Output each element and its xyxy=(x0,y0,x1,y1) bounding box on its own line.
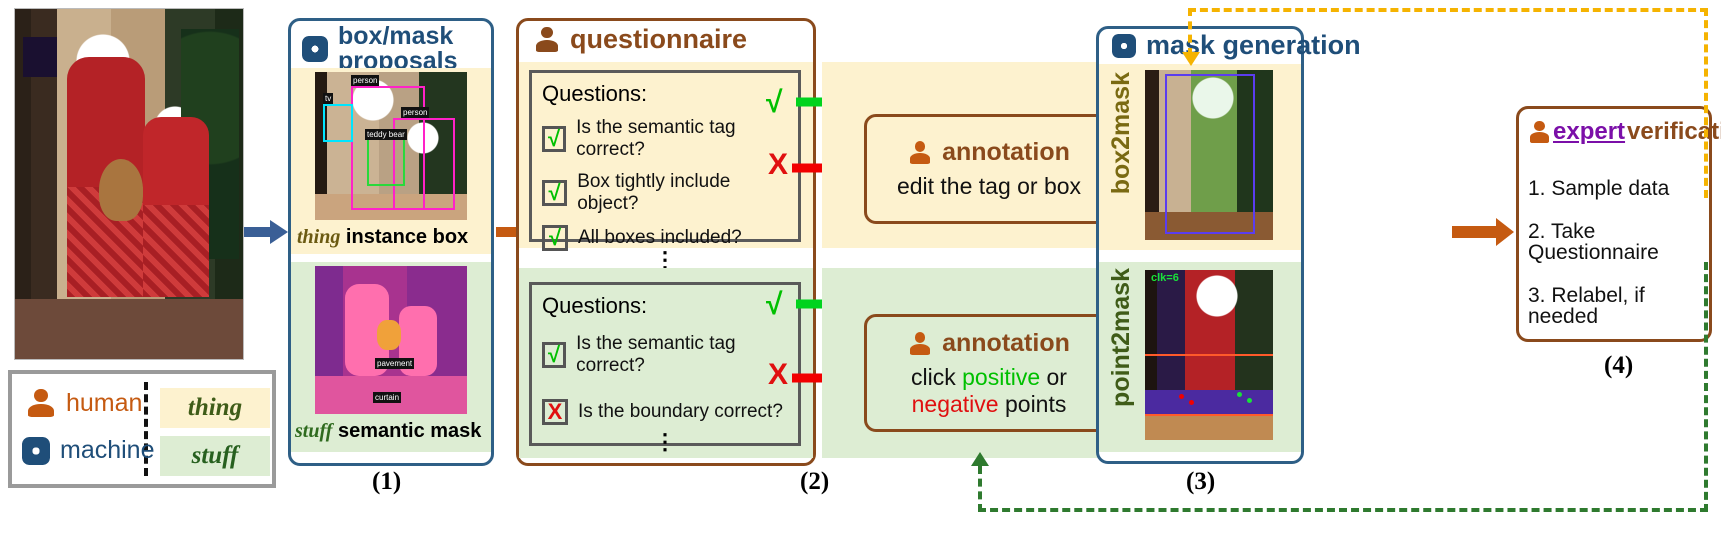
proposals-stuff-band: pavement curtain stuff semantic mask xyxy=(291,262,491,452)
thing-instance-box-image: person tv person teddy bear xyxy=(315,72,467,220)
bbox-teddy-bear xyxy=(367,138,405,186)
step-label-1: (1) xyxy=(372,468,401,496)
annotation-thing-text: edit the tag or box xyxy=(897,173,1081,199)
legend-box: human machine thing stuff xyxy=(8,370,276,488)
gear-icon xyxy=(1112,34,1136,58)
step-label-2: (2) xyxy=(800,468,829,496)
more-questions-indicator: ⋮ xyxy=(542,439,788,445)
questionnaire-title: questionnaire xyxy=(534,24,747,55)
stuff-question-card: Questions: √ Is the semantic tag correct… xyxy=(529,282,801,446)
legend-label-human: human xyxy=(66,389,142,418)
gear-icon xyxy=(302,36,328,62)
photo-teddy-bear xyxy=(99,159,143,221)
feedback-route-yellow xyxy=(1188,8,1708,198)
question-text: Is the semantic tag correct? xyxy=(576,333,788,377)
legend-row-machine: machine xyxy=(22,436,155,465)
question-row[interactable]: X Is the boundary correct? xyxy=(542,399,788,425)
legend-label-machine: machine xyxy=(60,436,155,465)
thing-pass-mark: √ xyxy=(766,86,782,120)
thing-caption-rest: instance box xyxy=(340,226,468,248)
annotation-thing-title: annotation xyxy=(908,138,1070,167)
thing-questions-heading: Questions: xyxy=(542,81,788,107)
mask-teddy-bear xyxy=(377,320,401,350)
thing-question-card: Questions: √ Is the semantic tag correct… xyxy=(529,70,801,242)
checkbox[interactable]: √ xyxy=(542,180,567,206)
input-photo xyxy=(14,8,244,360)
photo-tv-region xyxy=(23,37,57,77)
bbox-tv xyxy=(323,104,353,142)
stuff-semantic-mask-image: pavement curtain xyxy=(315,266,467,414)
question-text: Box tightly include object? xyxy=(577,171,788,215)
stuff-caption: stuff semantic mask xyxy=(295,420,481,443)
legend-chip-stuff: stuff xyxy=(160,436,270,476)
stuff-pass-mark: √ xyxy=(766,288,782,322)
person-icon xyxy=(908,332,932,356)
feedback-arrowhead-yellow xyxy=(1182,52,1200,66)
box2mask-label: box2mask xyxy=(1107,72,1136,194)
person-icon xyxy=(26,388,56,418)
feedback-arrowhead-green xyxy=(971,452,989,466)
question-text: All boxes included? xyxy=(578,227,742,249)
mask-tag-pavement: pavement xyxy=(375,358,414,369)
proposals-title-line1: box/mask xyxy=(338,24,457,49)
mask-tag-curtain: curtain xyxy=(373,392,401,403)
legend-row-human: human xyxy=(26,388,142,418)
bbox-tag-tv: tv xyxy=(323,93,333,104)
bbox-tag-person-2: person xyxy=(401,107,429,118)
annotation-thing-card: annotation edit the tag or box xyxy=(864,114,1114,224)
question-row[interactable]: √ Is the semantic tag correct? xyxy=(542,333,788,377)
feedback-route-yellow-drop xyxy=(1188,8,1192,56)
proposals-thing-band: person tv person teddy bear thing instan… xyxy=(291,68,491,254)
stuff-caption-rest: semantic mask xyxy=(332,420,481,442)
checkbox[interactable]: √ xyxy=(542,126,566,152)
stuff-questions-heading: Questions: xyxy=(542,293,788,319)
feedback-route-green xyxy=(978,262,1708,512)
thing-fail-mark: X xyxy=(768,148,788,182)
question-row[interactable]: √ Is the semantic tag correct? xyxy=(542,117,788,161)
checkbox[interactable]: √ xyxy=(542,225,568,251)
expert-step-2: 2. Take Questionnaire xyxy=(1528,221,1708,263)
proposals-title: box/mask proposals xyxy=(302,24,488,74)
gear-icon xyxy=(22,437,50,465)
feedback-route-green-rise xyxy=(978,466,982,512)
stuff-fail-mark: X xyxy=(768,358,788,392)
questionnaire-title-text: questionnaire xyxy=(570,24,747,55)
annotation-stuff-text-1: click xyxy=(911,364,962,390)
bbox-tag-teddy-bear: teddy bear xyxy=(365,129,407,140)
question-text: Is the boundary correct? xyxy=(578,401,783,423)
person-icon xyxy=(534,27,560,53)
bbox-tag-person: person xyxy=(351,75,379,86)
thing-caption-italic: thing xyxy=(297,226,340,248)
checkbox[interactable]: X xyxy=(542,399,568,425)
annotation-thing-title-text: annotation xyxy=(942,138,1070,167)
question-row[interactable]: √ Box tightly include object? xyxy=(542,171,788,215)
person-icon xyxy=(908,141,932,165)
stuff-caption-italic: stuff xyxy=(295,420,332,442)
checkbox[interactable]: √ xyxy=(542,342,566,368)
legend-chip-thing: thing xyxy=(160,388,270,428)
more-questions-indicator: ⋮ xyxy=(542,257,788,263)
photo-person-2 xyxy=(143,117,209,297)
thing-caption: thing instance box xyxy=(297,226,468,249)
question-text: Is the semantic tag correct? xyxy=(576,117,788,161)
